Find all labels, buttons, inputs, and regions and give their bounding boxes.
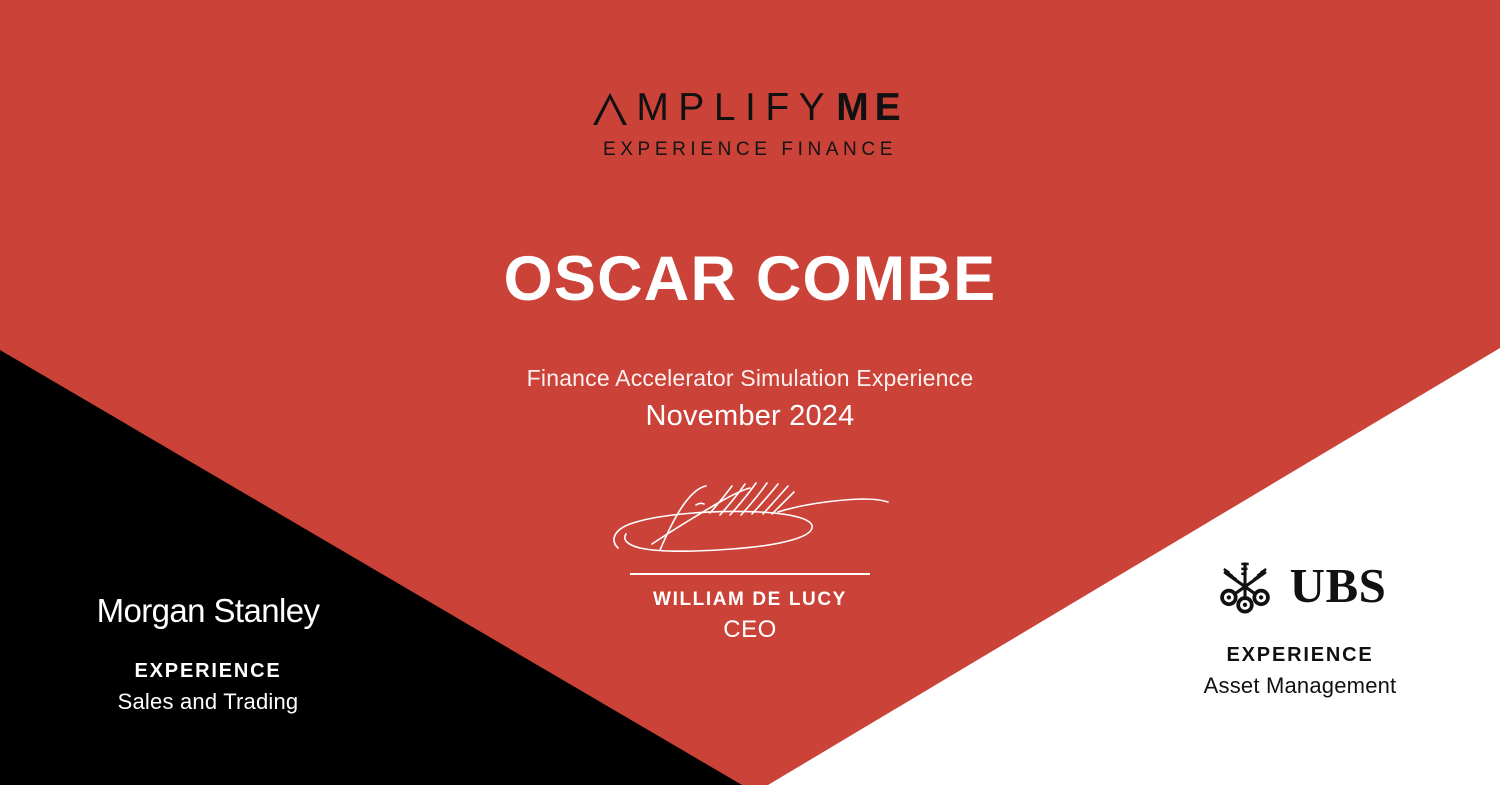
program-block: Finance Accelerator Simulation Experienc… — [0, 365, 1500, 433]
partner-experience-label: EXPERIENCE — [28, 660, 388, 683]
logo-word-light: MPLIFY — [636, 88, 834, 127]
logo-wordmark: MPLIFY ME — [593, 88, 906, 127]
ubs-wordmark: UBS — [1290, 561, 1387, 610]
ubs-logo: UBS — [1120, 562, 1480, 608]
partner-experience-label: EXPERIENCE — [1120, 644, 1480, 667]
ubs-three-keys-icon — [1214, 554, 1276, 616]
morgan-stanley-logo: Morgan Stanley — [28, 588, 388, 634]
recipient-name: OSCAR COMBE — [0, 243, 1500, 315]
partner-track: Asset Management — [1120, 673, 1480, 699]
amplifyme-logo: MPLIFY ME EXPERIENCE FINANCE — [0, 88, 1500, 161]
signature-rule — [630, 573, 870, 575]
logo-tagline: EXPERIENCE FINANCE — [0, 139, 1500, 161]
triangle-a-icon — [593, 93, 627, 123]
program-title: Finance Accelerator Simulation Experienc… — [0, 365, 1500, 392]
program-date: November 2024 — [0, 400, 1500, 433]
certificate: MPLIFY ME EXPERIENCE FINANCE OSCAR COMBE… — [0, 0, 1500, 785]
partner-track: Sales and Trading — [28, 689, 388, 715]
handwritten-signature-icon — [600, 470, 900, 565]
partner-ubs: UBS EXPERIENCE Asset Management — [1120, 562, 1480, 699]
morgan-stanley-wordmark: Morgan Stanley — [97, 592, 320, 630]
logo-word-bold: ME — [836, 88, 907, 127]
ubs-lockup: UBS — [1214, 554, 1387, 616]
partner-morgan-stanley: Morgan Stanley EXPERIENCE Sales and Trad… — [28, 588, 388, 715]
